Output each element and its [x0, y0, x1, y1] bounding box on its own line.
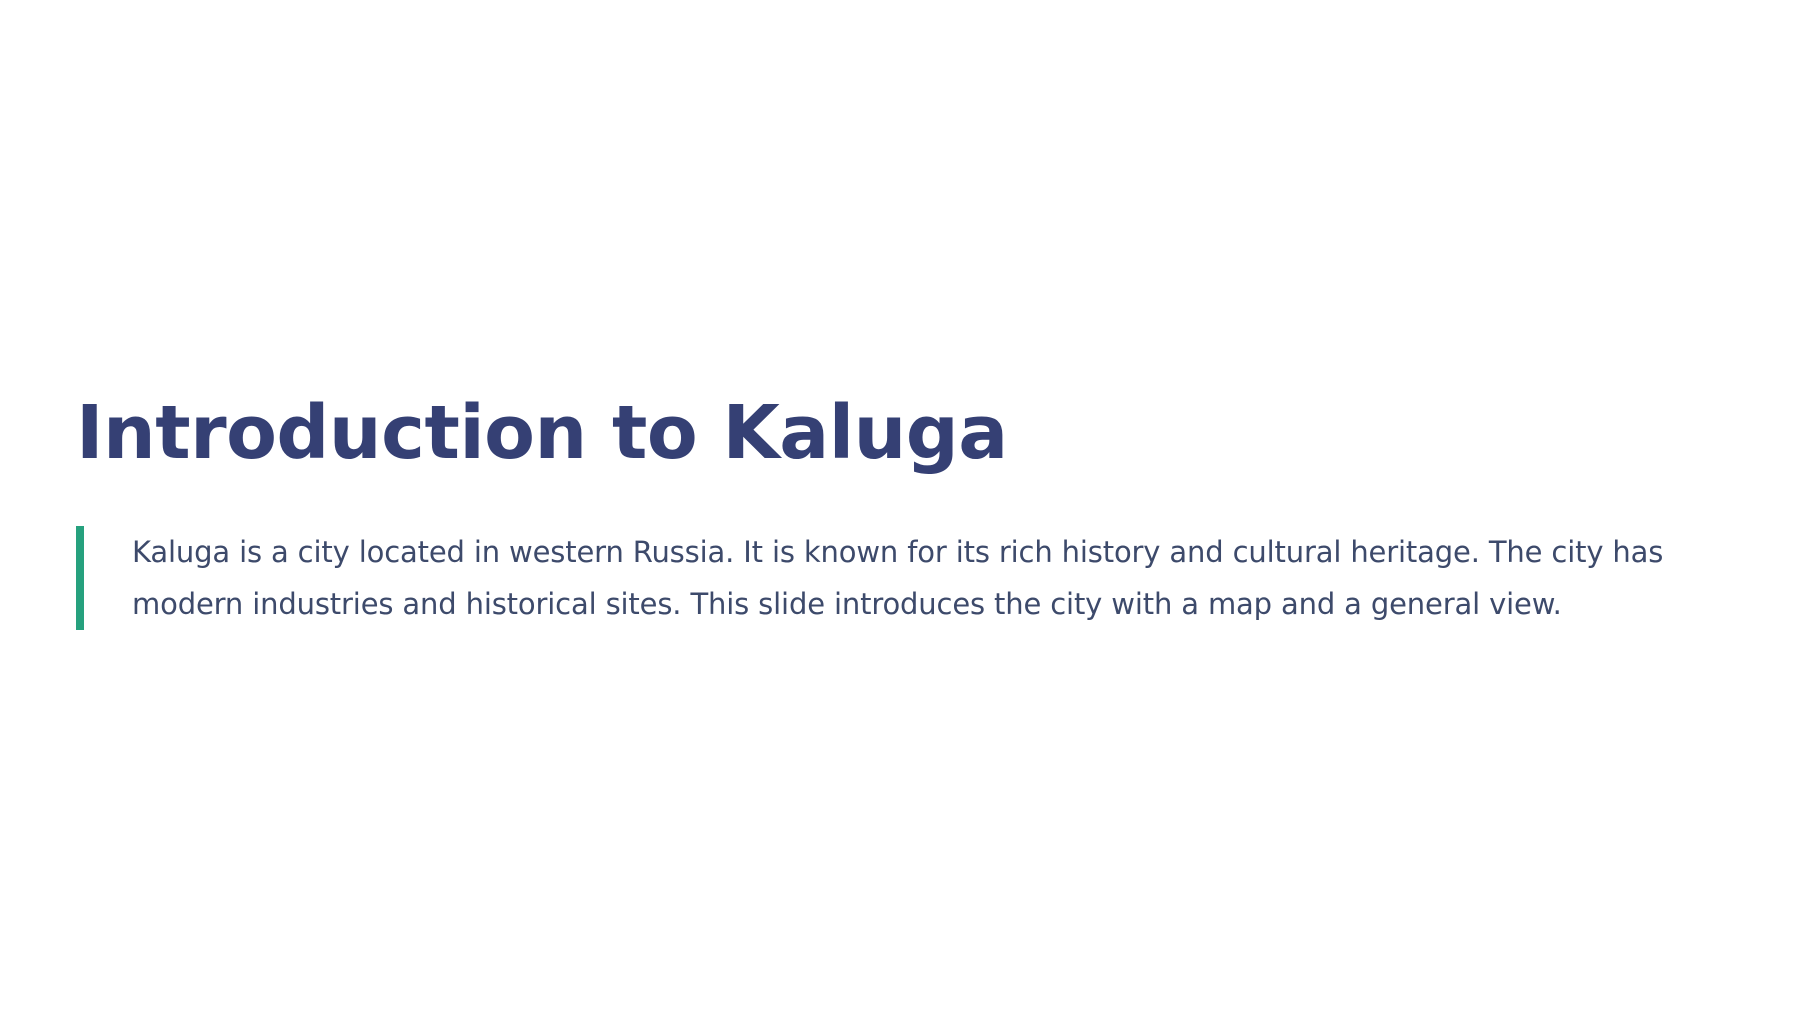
page-title: Introduction to Kaluga [76, 396, 1724, 470]
slide-content: Introduction to Kaluga Kaluga is a city … [76, 396, 1724, 630]
body-paragraph: Kaluga is a city located in western Russ… [132, 526, 1722, 630]
accent-bar [76, 526, 84, 630]
body-callout: Kaluga is a city located in western Russ… [76, 526, 1724, 630]
slide-canvas: Introduction to Kaluga Kaluga is a city … [0, 0, 1800, 1013]
